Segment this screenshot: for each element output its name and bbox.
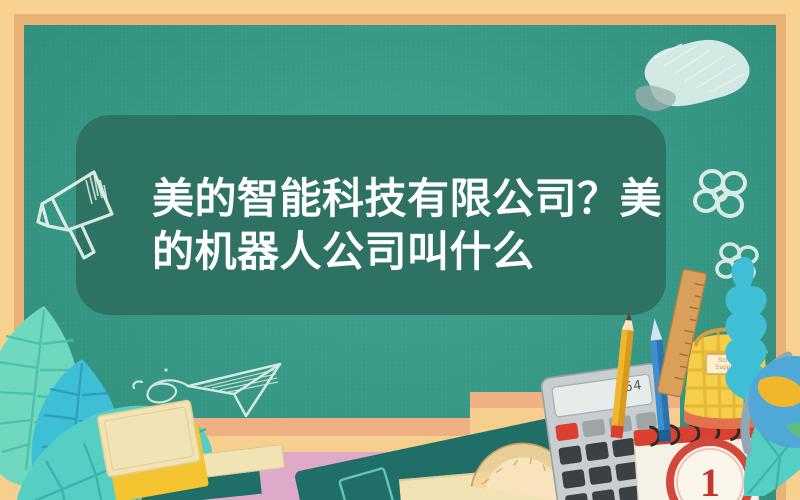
list-item — [96, 391, 222, 500]
banner-image: 美的智能科技有限公司？美的机器人公司叫什么 — [0, 0, 800, 500]
page-title: 美的智能科技有限公司？美的机器人公司叫什么 — [152, 173, 662, 279]
globe-icon — [732, 330, 800, 460]
